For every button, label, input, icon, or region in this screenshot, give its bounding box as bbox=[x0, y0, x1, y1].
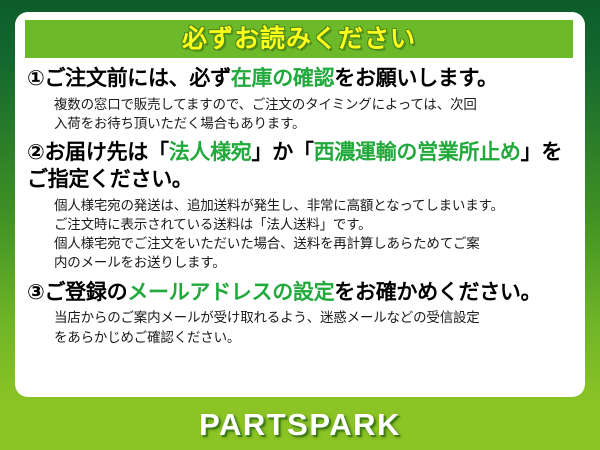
notice-item-body: 複数の窓口で販売してますので、ご注文のタイミングによっては、次回入荷をお待ち頂い… bbox=[27, 95, 573, 133]
notice-body-line: 個人様宅宛でご注文をいただいた場合、送料を再計算しあらためてご案 bbox=[54, 234, 573, 253]
notice-body-line: ご注文時に表示されている送料は「法人送料」です。 bbox=[54, 215, 573, 234]
brand-name: PARTSPARK bbox=[199, 407, 401, 443]
notice-body-line: 個人様宅宛の発送は、追加送料が発生し、非常に高額となってしまいます。 bbox=[54, 196, 573, 215]
notice-heading-text: をお確かめください。 bbox=[334, 281, 541, 304]
notice-body-line: 内のメールをお送りします。 bbox=[54, 253, 573, 272]
notice-body-line: 当店からのご案内メールが受け取れるよう、迷惑メールなどの受信設定 bbox=[54, 308, 573, 327]
notice-item-marker: ① bbox=[27, 67, 44, 90]
notice-heading-text: お届け先は「 bbox=[44, 141, 168, 164]
notice-item-marker: ③ bbox=[27, 281, 44, 304]
banner-title: 必ずお読みください bbox=[182, 27, 416, 52]
notice-item: ②お届け先は「法人様宛」か「西濃運輸の営業所止め」をご指定ください。個人様宅宛の… bbox=[27, 140, 573, 272]
notice-item-marker: ② bbox=[27, 141, 44, 164]
notice-body-line: をあらかじめご確認ください。 bbox=[54, 328, 573, 347]
notice-list: ①ご注文前には、必ず在庫の確認をお願いします。複数の窓口で販売してますので、ご注… bbox=[15, 66, 585, 354]
notice-heading-text: ご登録の bbox=[44, 281, 127, 304]
notice-heading-text: ご注文前には、必ず bbox=[44, 67, 230, 90]
notice-item: ③ご登録のメールアドレスの設定をお確かめください。当店からのご案内メールが受け取… bbox=[27, 280, 573, 347]
content-card: 必ずお読みください ①ご注文前には、必ず在庫の確認をお願いします。複数の窓口で販… bbox=[15, 12, 585, 397]
footer-brand: PARTSPARK bbox=[0, 400, 600, 450]
notice-heading-accent: メールアドレスの設定 bbox=[127, 281, 334, 304]
notice-heading-accent: 法人様宛 bbox=[169, 141, 252, 164]
title-bar: 必ずお読みください bbox=[25, 20, 573, 58]
notice-body-line: 入荷をお待ち頂いただく場合もあります。 bbox=[54, 114, 573, 133]
notice-body-line: 複数の窓口で販売してますので、ご注文のタイミングによっては、次回 bbox=[54, 95, 573, 114]
notice-heading-text: をお願いします。 bbox=[334, 67, 498, 90]
notice-heading-text: 」か「 bbox=[252, 141, 314, 164]
notice-heading-text: 」 bbox=[521, 141, 542, 164]
notice-item-body: 当店からのご案内メールが受け取れるよう、迷惑メールなどの受信設定をあらかじめご確… bbox=[27, 308, 573, 346]
notice-heading-accent: 西濃運輸の営業所止め bbox=[314, 141, 521, 164]
notice-item-body: 個人様宅宛の発送は、追加送料が発生し、非常に高額となってしまいます。ご注文時に表… bbox=[27, 196, 573, 273]
notice-item: ①ご注文前には、必ず在庫の確認をお願いします。複数の窓口で販売してますので、ご注… bbox=[27, 66, 573, 133]
notice-item-heading: ②お届け先は「法人様宛」か「西濃運輸の営業所止め」をご指定ください。 bbox=[27, 140, 573, 194]
notice-item-heading: ①ご注文前には、必ず在庫の確認をお願いします。 bbox=[27, 66, 573, 93]
notice-item-heading: ③ご登録のメールアドレスの設定をお確かめください。 bbox=[27, 280, 573, 307]
notice-heading-accent: 在庫の確認 bbox=[231, 67, 335, 90]
notice-banner: 必ずお読みください ①ご注文前には、必ず在庫の確認をお願いします。複数の窓口で販… bbox=[0, 0, 600, 450]
